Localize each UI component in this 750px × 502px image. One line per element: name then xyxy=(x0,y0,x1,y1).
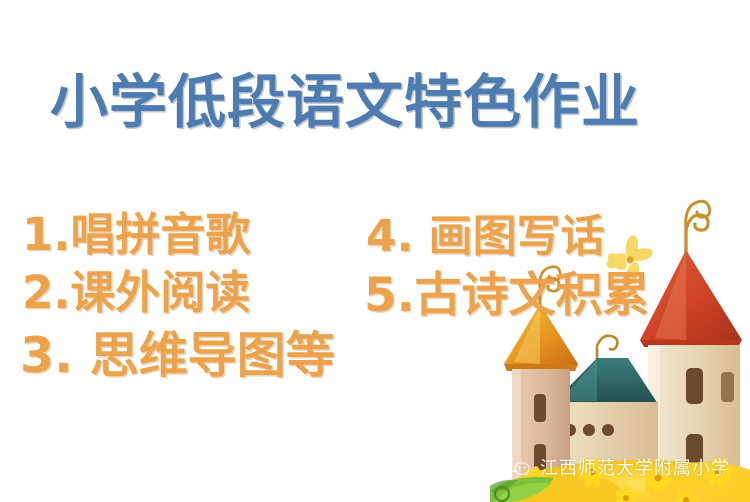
wechat-icon xyxy=(505,456,531,478)
list-item: 3. 思维导图等 xyxy=(20,316,335,387)
list-item: 1.唱拼音歌 xyxy=(22,198,250,263)
list-item: 2.课外阅读 xyxy=(22,256,250,321)
watermark-label: 江西师范大学附属小学 xyxy=(540,454,730,480)
page-title: 小学低段语文特色作业 xyxy=(50,66,610,138)
list-item: 4. 画图写话 xyxy=(366,200,605,264)
list-item: 5.古诗文积累 xyxy=(364,256,650,325)
watermark: 江西师范大学附属小学 xyxy=(505,452,730,482)
poster-canvas: 小学低段语文特色作业 1.唱拼音歌 2.课外阅读 3. 思维导图等 4. 画图写… xyxy=(0,0,750,502)
